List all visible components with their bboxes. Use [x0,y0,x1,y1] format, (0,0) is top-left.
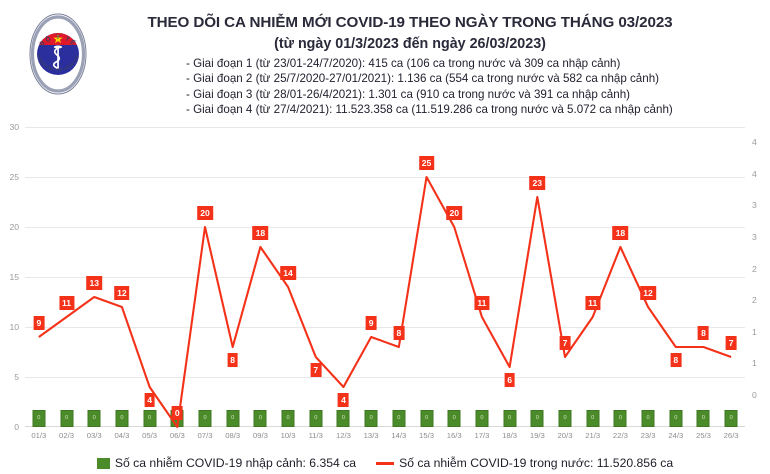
x-axis-tick-label: 10/3 [281,431,296,440]
y-axis-left-tick: 20 [9,223,19,232]
x-axis-tick-label: 21/3 [585,431,600,440]
line-point-value-label: 18 [253,226,269,240]
y-axis-right-tick: 2 [752,265,757,274]
x-axis-tick-label: 06/3 [170,431,185,440]
x-axis-tick-label: 02/3 [59,431,74,440]
line-point-value-label: 7 [726,336,737,350]
y-axis-left-tick: 30 [9,123,19,132]
legend-item-imported[interactable]: Số ca nhiễm COVID-19 nhập cảnh: 6.354 ca [97,456,356,470]
x-axis-tick-label: 16/3 [447,431,462,440]
x-axis-tick-label: 26/3 [724,431,739,440]
x-axis-tick-label: 07/3 [198,431,213,440]
chart-header: BỘ Y TẾ MINISTRY OF HEALTH THEO DÕI CA N… [0,0,770,118]
phase-line-1: - Giai đoạn 1 (từ 23/01-24/7/2020): 415 … [186,56,746,71]
x-axis-tick-label: 03/3 [87,431,102,440]
x-axis-tick-label: 09/3 [253,431,268,440]
x-axis-tick-label: 19/3 [530,431,545,440]
legend-label-domestic: Số ca nhiễm COVID-19 trong nước: 11.520.… [399,456,673,470]
phase-summary-list: - Giai đoạn 1 (từ 23/01-24/7/2020): 415 … [186,56,746,117]
x-axis-tick-label: 11/3 [309,431,323,440]
line-point-value-label: 0 [172,406,183,420]
y-axis-right-tick: 0 [752,391,757,400]
y-axis-left-tick: 15 [9,273,19,282]
x-axis-tick-label: 24/3 [668,431,683,440]
chart-title-subtitle: (từ ngày 01/3/2023 đến ngày 26/03/2023) [95,34,725,54]
y-axis-right-tick: 3 [752,201,757,210]
x-axis-tick-label: 20/3 [558,431,573,440]
domestic-cases-line [25,127,745,427]
line-point-value-label: 11 [59,296,74,310]
x-axis-tick-label: 08/3 [225,431,240,440]
y-axis-right-tick: 1 [752,328,757,337]
line-point-value-label: 13 [86,276,102,290]
line-point-value-label: 8 [393,326,404,340]
line-point-value-label: 12 [114,286,130,300]
y-axis-left-tick: 0 [14,423,19,432]
page-title: THEO DÕI CA NHIỄM MỚI COVID-19 THEO NGÀY… [95,12,725,54]
line-point-value-label: 18 [613,226,629,240]
line-point-value-label: 8 [698,326,709,340]
line-point-value-label: 9 [366,316,377,330]
y-axis-left-tick: 5 [14,373,19,382]
y-axis-right-tick: 4 [752,138,757,147]
line-point-value-label: 11 [474,296,489,310]
y-axis-left-tick: 25 [9,173,19,182]
line-point-value-label: 23 [530,176,546,190]
line-point-value-label: 14 [280,266,296,280]
y-axis-left-tick: 10 [9,323,19,332]
line-point-value-label: 8 [227,353,238,367]
line-point-value-label: 6 [504,373,515,387]
chart-legend: Số ca nhiễm COVID-19 nhập cảnh: 6.354 ca… [0,452,770,474]
x-axis-tick-label: 14/3 [391,431,406,440]
legend-label-imported: Số ca nhiễm COVID-19 nhập cảnh: 6.354 ca [115,456,356,470]
line-point-value-label: 9 [33,316,44,330]
x-axis-tick-label: 18/3 [502,431,517,440]
red-line-swatch-icon [376,462,394,465]
x-axis-tick-label: 01/3 [31,431,46,440]
y-axis-right-tick: 2 [752,296,757,305]
line-point-value-label: 4 [338,393,349,407]
plot-area: 3025201510504433221100000000000000000000… [25,127,745,427]
y-axis-right-tick: 1 [752,359,757,368]
phase-line-3: - Giai đoạn 3 (từ 28/01-26/4/2021): 1.30… [186,87,746,102]
x-axis-tick-label: 04/3 [114,431,129,440]
chart-title-main: THEO DÕI CA NHIỄM MỚI COVID-19 THEO NGÀY… [95,12,725,33]
y-axis-right-tick: 3 [752,233,757,242]
covid-daily-cases-chart: 3025201510504433221100000000000000000000… [0,118,770,452]
ministry-of-health-emblem-icon: BỘ Y TẾ MINISTRY OF HEALTH [27,10,89,98]
green-square-swatch-icon [97,458,110,469]
phase-line-4: - Giai đoạn 4 (từ 27/4/2021): 11.523.358… [186,102,746,117]
line-point-value-label: 20 [197,206,213,220]
line-point-value-label: 12 [640,286,656,300]
x-axis-tick-label: 12/3 [336,431,351,440]
x-axis-tick-label: 05/3 [142,431,157,440]
line-point-value-label: 11 [585,296,600,310]
x-axis-tick-label: 17/3 [474,431,489,440]
y-axis-right-tick: 4 [752,170,757,179]
legend-item-domestic[interactable]: Số ca nhiễm COVID-19 trong nước: 11.520.… [376,456,673,470]
x-axis-tick-label: 23/3 [641,431,656,440]
line-point-value-label: 20 [446,206,462,220]
line-point-value-label: 8 [670,353,681,367]
x-axis-tick-label: 15/3 [419,431,434,440]
line-point-value-label: 4 [144,393,155,407]
phase-line-2: - Giai đoạn 2 (từ 25/7/2020-27/01/2021):… [186,71,746,86]
x-axis-tick-label: 25/3 [696,431,711,440]
line-point-value-label: 7 [310,363,321,377]
line-point-value-label: 25 [419,156,435,170]
x-axis-tick-label: 13/3 [364,431,379,440]
line-point-value-label: 7 [560,336,571,350]
x-axis-tick-label: 22/3 [613,431,628,440]
